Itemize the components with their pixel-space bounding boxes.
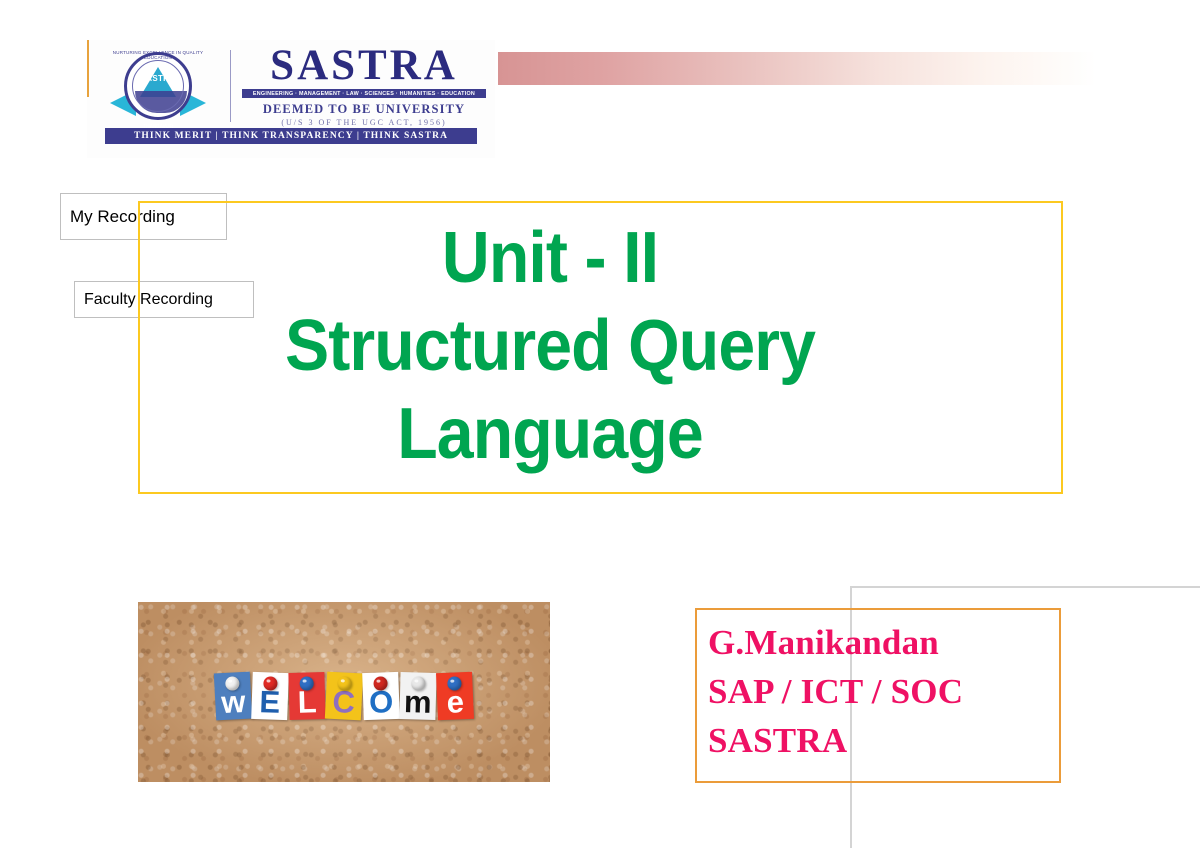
welcome-tile: e [436, 671, 474, 720]
pushpin-icon [447, 676, 462, 691]
emblem-seal-circle [124, 52, 192, 120]
sastra-emblem-logo: NURTURING EXCELLENCE IN QUALITY EDUCATIO… [110, 48, 206, 136]
welcome-image: wELCOme [138, 602, 550, 782]
emblem-seal-name: SASTRA [110, 74, 206, 83]
pushpin-icon [225, 676, 240, 691]
pushpin-icon [337, 676, 352, 691]
slide-title: Unit - II Structured Query Language [187, 214, 914, 478]
welcome-tile: O [362, 671, 400, 719]
wordmark-disciplines-bar: ENGINEERING · MANAGEMENT · LAW · SCIENCE… [242, 89, 486, 98]
pushpin-icon [299, 676, 313, 690]
emblem-arc-band [135, 91, 187, 113]
pushpin-icon [263, 676, 277, 690]
wordmark-ugc-act-line: (U/S 3 OF THE UGC ACT, 1956) [242, 118, 486, 127]
author-name: G.Manikandan [708, 618, 1054, 667]
emblem-ring-text: NURTURING EXCELLENCE IN QUALITY EDUCATIO… [110, 50, 206, 60]
author-details: G.Manikandan SAP / ICT / SOC SASTRA [708, 618, 1054, 765]
letterhead-tagline-banner: THINK MERIT | THINK TRANSPARENCY | THINK… [105, 128, 477, 144]
emblem-seal-subtext: THANJAVUR [110, 124, 206, 130]
wordmark-text: SASTRA [242, 44, 486, 88]
welcome-tile: w [214, 671, 252, 720]
welcome-letter-tiles: wELCOme [215, 672, 473, 719]
sastra-wordmark: SASTRA ENGINEERING · MANAGEMENT · LAW · … [242, 44, 486, 127]
welcome-tile: C [325, 671, 363, 720]
welcome-tile: L [288, 672, 325, 720]
letterhead-divider [230, 50, 231, 122]
title-line-2: Structured Query [187, 302, 914, 390]
title-line-3: Language [187, 390, 914, 478]
header-gradient-bar [498, 52, 1096, 85]
pushpin-icon [373, 676, 387, 690]
author-role: SAP / ICT / SOC [708, 667, 1054, 716]
wordmark-deemed-line: DEEMED TO BE UNIVERSITY [242, 102, 486, 117]
welcome-tile: E [251, 671, 289, 719]
slide-canvas: NURTURING EXCELLENCE IN QUALITY EDUCATIO… [0, 0, 1200, 848]
author-institution: SASTRA [708, 716, 1054, 765]
pushpin-icon [411, 676, 425, 690]
title-line-1: Unit - II [187, 214, 914, 302]
sastra-letterhead: NURTURING EXCELLENCE IN QUALITY EDUCATIO… [87, 40, 495, 158]
welcome-tile: m [399, 672, 436, 720]
